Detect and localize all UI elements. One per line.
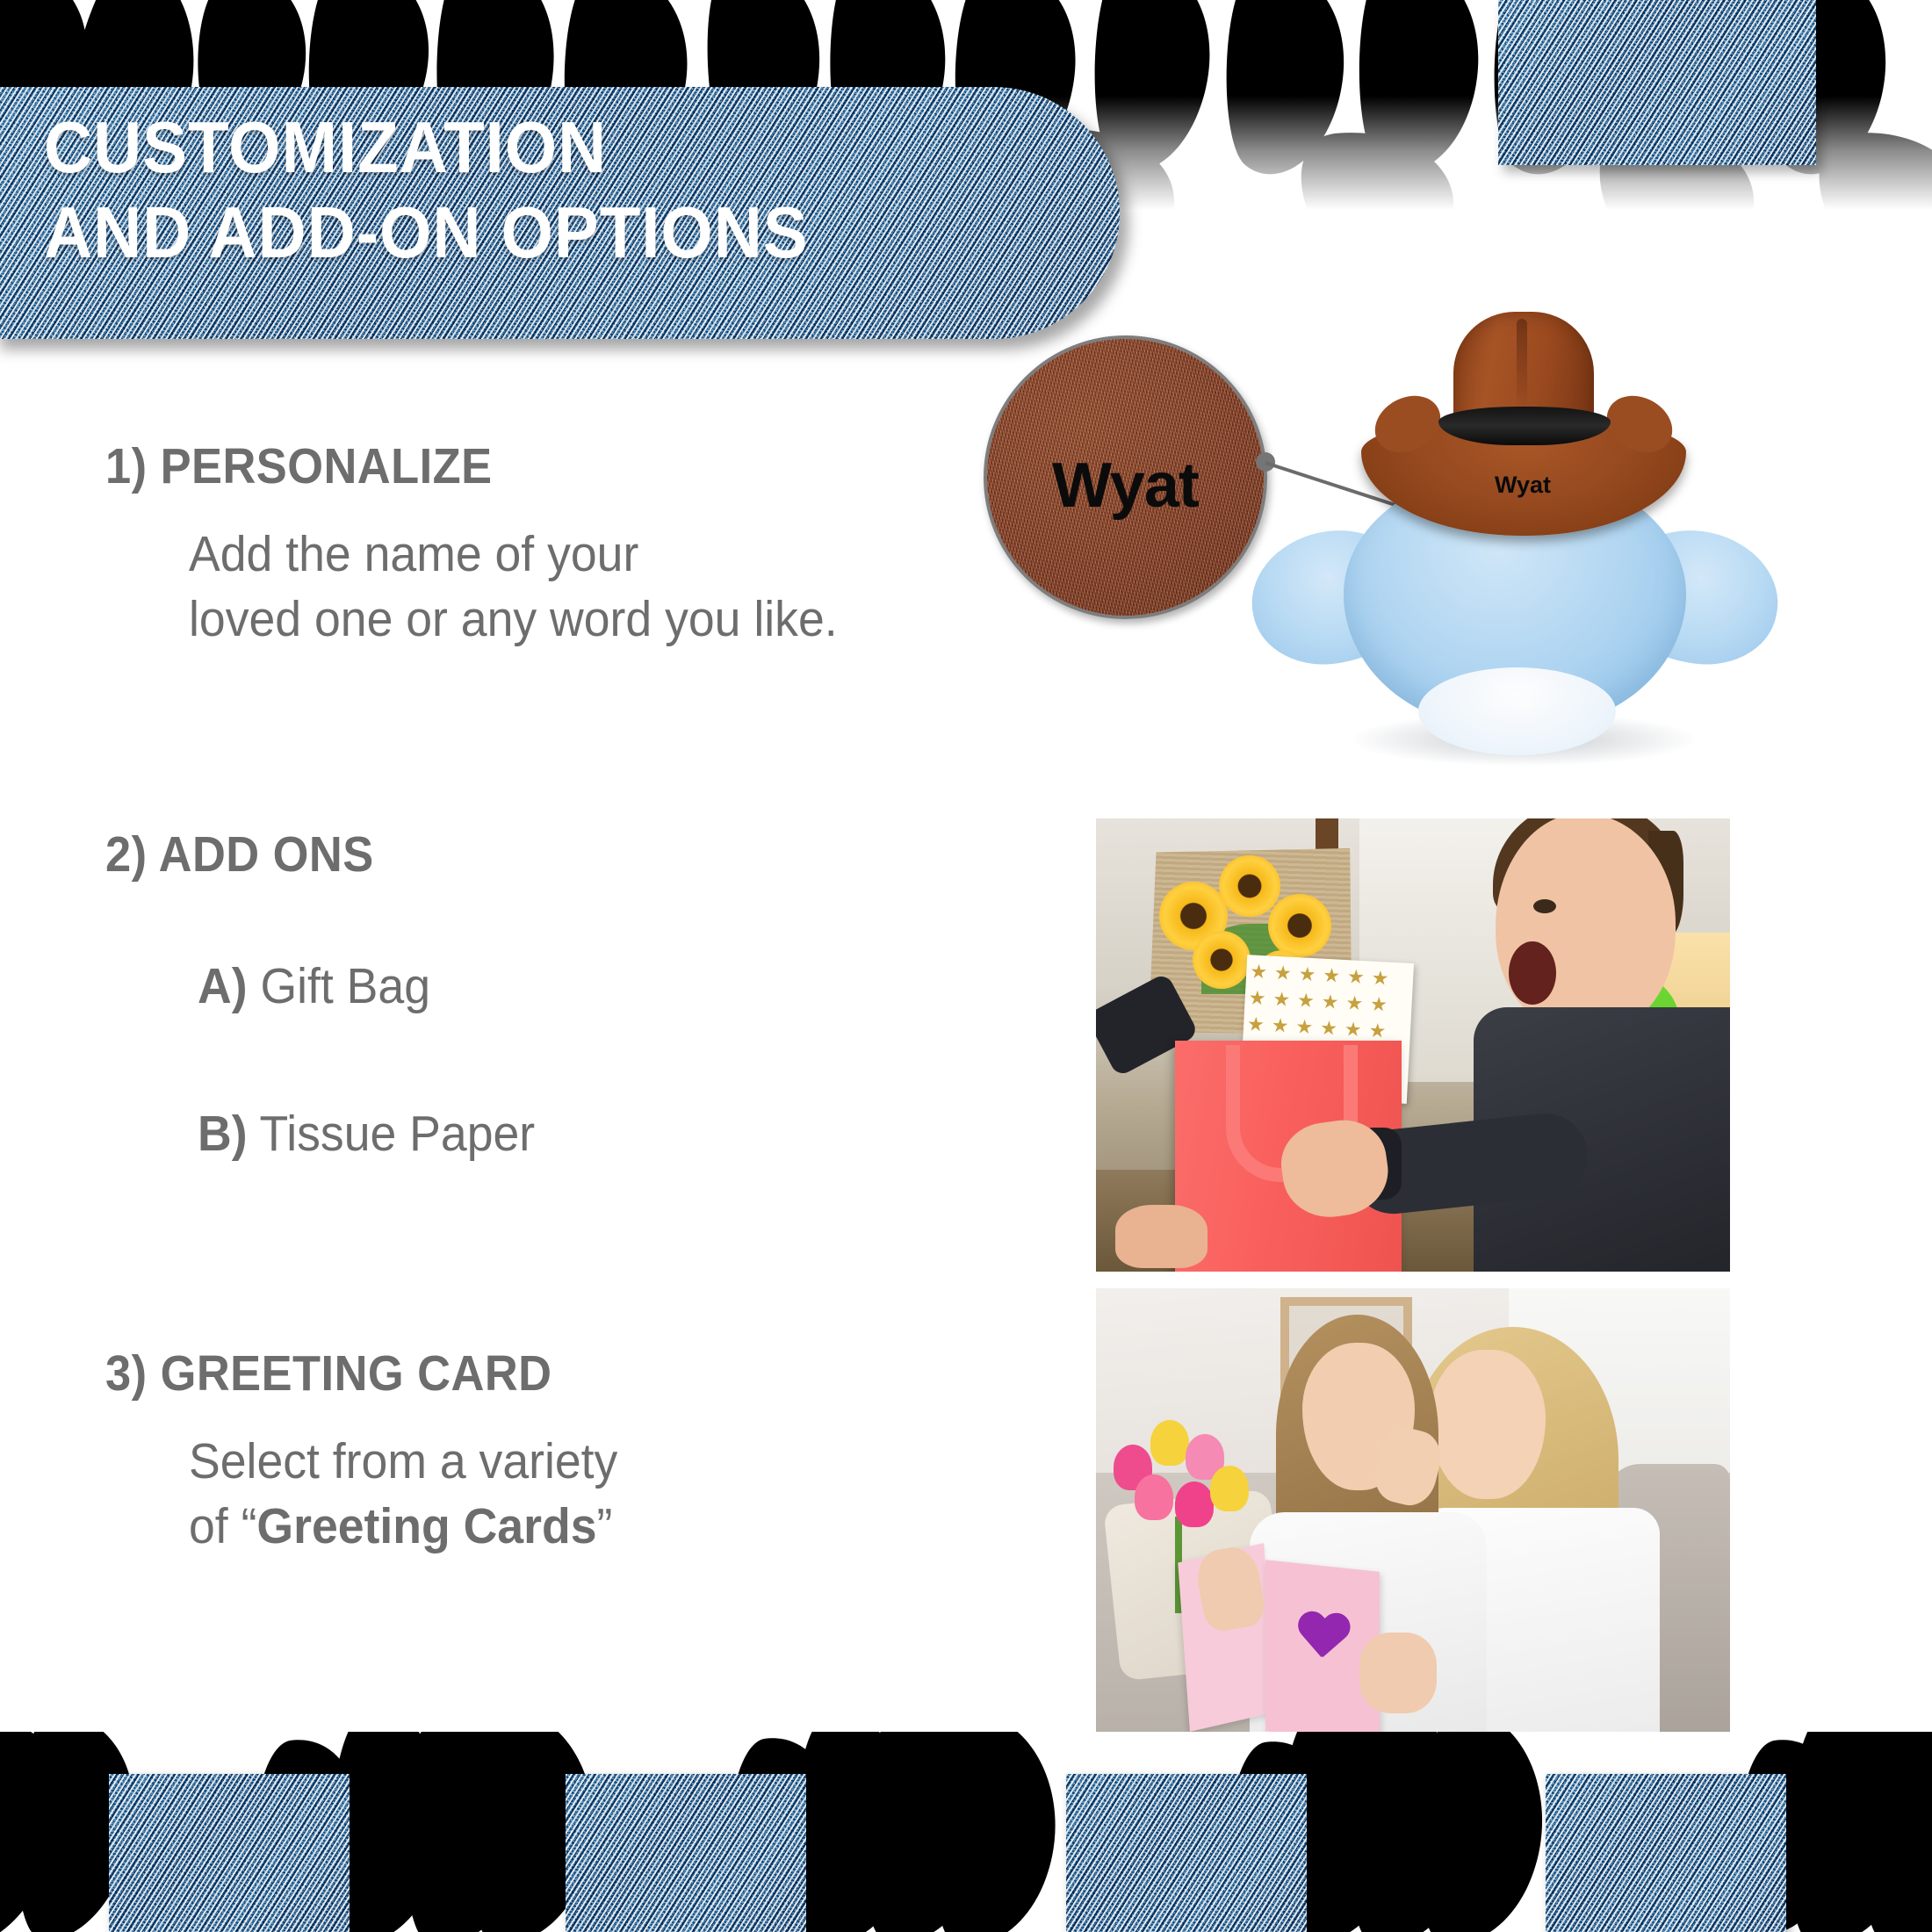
denim-swatch-top-right (1498, 0, 1816, 165)
addon-option-gift-bag: A) Gift Bag (198, 957, 430, 1015)
gift-bag-photo: ★★★★★★★★★★★★★★★★★★★★★★★★★★★★★★★★★★★★★★★★ (1096, 818, 1730, 1272)
denim-panel (1546, 1774, 1786, 1932)
cowboy-hat: Wyat (1361, 312, 1686, 536)
step-1-number: 1) (105, 438, 148, 494)
sunflower (1219, 855, 1280, 917)
step-3-heading: 3) GREETING CARD (105, 1344, 602, 1402)
banner-title: CUSTOMIZATION AND ADD-ON OPTIONS (44, 105, 998, 275)
denim-panel (109, 1774, 350, 1932)
hat-band (1438, 407, 1611, 445)
mother-face (1430, 1350, 1546, 1499)
banner-title-line-2: AND ADD-ON OPTIONS (44, 190, 998, 275)
tulip (1175, 1481, 1214, 1527)
step-3-body-line-2: of “Greeting Cards” (189, 1494, 617, 1559)
addon-a-label: Gift Bag (260, 958, 430, 1014)
boy-eye (1533, 899, 1556, 913)
denim-panel (566, 1774, 806, 1932)
step-greeting-card: 3) GREETING CARD Select from a variety o… (105, 1344, 645, 1559)
plush-belly (1418, 667, 1616, 755)
step-2-heading: 2) ADD ONS (105, 825, 374, 883)
step-1-heading: 1) PERSONALIZE (105, 437, 817, 495)
heart-icon (1294, 1611, 1351, 1662)
gift-bag-scene: ★★★★★★★★★★★★★★★★★★★★★★★★★★★★★★★★★★★★★★★★ (1096, 818, 1730, 1272)
step-add-ons: 2) ADD ONS (105, 825, 397, 883)
sunflower (1193, 931, 1251, 989)
denim-panel (1066, 1774, 1307, 1932)
step-3-emphasis: Greeting Cards (256, 1498, 596, 1554)
step-1-title: PERSONALIZE (161, 438, 493, 494)
greeting-card-scene (1096, 1288, 1730, 1732)
step-3-number: 3) (105, 1345, 148, 1402)
step-2-number: 2) (105, 826, 148, 883)
step-3-title: GREETING CARD (161, 1345, 552, 1402)
zoom-callout-name: Wyat (987, 450, 1264, 522)
addon-option-tissue-paper: B) Tissue Paper (198, 1105, 535, 1163)
step-2-title: ADD ONS (159, 826, 374, 883)
addon-b-letter: B) (198, 1106, 248, 1162)
step-3-quote-close: ” (596, 1498, 612, 1554)
header-banner: CUSTOMIZATION AND ADD-ON OPTIONS (0, 87, 1120, 339)
mother-hand (1359, 1633, 1437, 1713)
tulip (1135, 1474, 1173, 1520)
name-zoom-callout: Wyat (984, 335, 1267, 619)
addon-b-label: Tissue Paper (259, 1106, 535, 1162)
bottom-cow-print-border (0, 1732, 1932, 1932)
step-1-body-line-2: loved one or any word you like. (189, 587, 838, 652)
step-personalize: 1) PERSONALIZE Add the name of your love… (105, 437, 879, 652)
tulip (1210, 1466, 1249, 1511)
greeting-card-photo (1096, 1288, 1730, 1732)
infographic-page: CUSTOMIZATION AND ADD-ON OPTIONS 1) PERS… (0, 0, 1932, 1932)
sunflower (1268, 894, 1331, 957)
banner-title-line-1: CUSTOMIZATION (44, 105, 998, 190)
giver-hand (1115, 1205, 1207, 1268)
step-3-body-line-1: Select from a variety (189, 1429, 617, 1494)
tulip (1150, 1420, 1189, 1466)
tulip-bouquet (1105, 1394, 1263, 1534)
plush-toy: Wyat (1238, 316, 1783, 773)
embroidered-name: Wyat (1495, 472, 1551, 499)
step-3-body: Select from a variety of “Greeting Cards… (105, 1429, 645, 1559)
step-3-quote-open: of “ (189, 1498, 256, 1554)
step-1-body: Add the name of your loved one or any wo… (105, 522, 879, 652)
product-illustration: Wyat Wyat (966, 316, 1809, 773)
addon-a-letter: A) (198, 958, 248, 1014)
boy-open-mouth (1509, 941, 1556, 1005)
step-1-body-line-1: Add the name of your (189, 522, 838, 587)
